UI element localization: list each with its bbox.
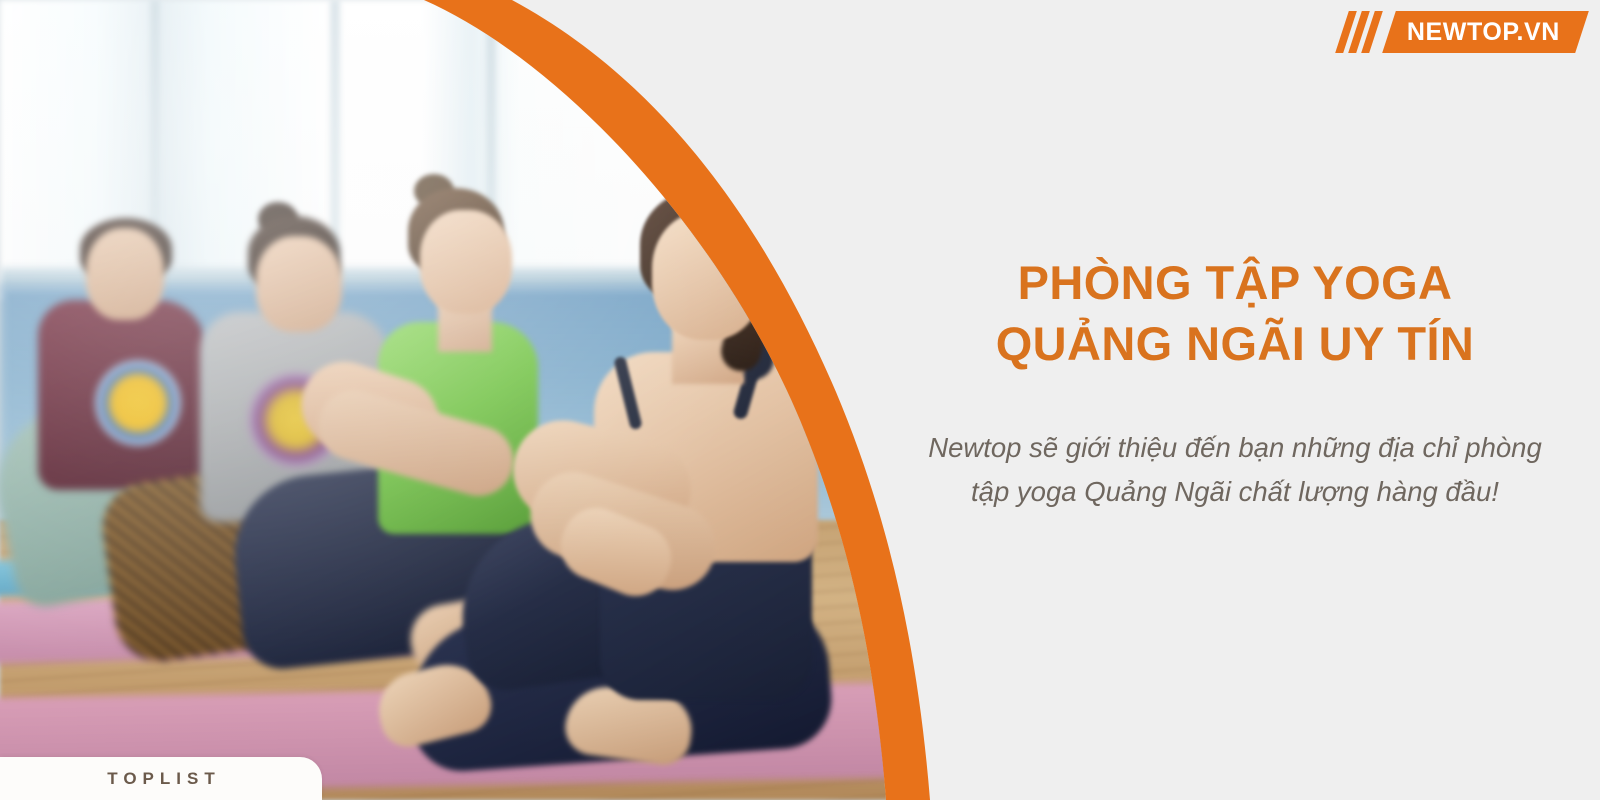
hero-photo-image (0, 0, 960, 800)
photo-person-background-1 (95, 360, 181, 446)
text-column: PHÒNG TẬP YOGA QUẢNG NGÃI UY TÍN Newtop … (905, 0, 1600, 800)
hero-photo (0, 0, 960, 800)
photo-person-background-1 (86, 228, 164, 320)
photo-person-green-tank (420, 210, 512, 314)
page-subtitle: Newtop sẽ giới thiệu đến bạn những địa c… (925, 426, 1545, 515)
photo-person-foreground (652, 212, 764, 340)
page-title-line-1: PHÒNG TẬP YOGA (905, 253, 1565, 313)
photo-person-background-2 (256, 236, 342, 332)
toplist-badge: TOPLIST (0, 757, 322, 800)
toplist-badge-label: TOPLIST (101, 769, 220, 789)
page-title: PHÒNG TẬP YOGA QUẢNG NGÃI UY TÍN (905, 253, 1565, 373)
banner-root: NEWTOP.VN PHÒNG TẬP YOGA QUẢNG NGÃI UY T… (0, 0, 1600, 800)
page-title-line-2: QUẢNG NGÃI UY TÍN (905, 314, 1565, 374)
